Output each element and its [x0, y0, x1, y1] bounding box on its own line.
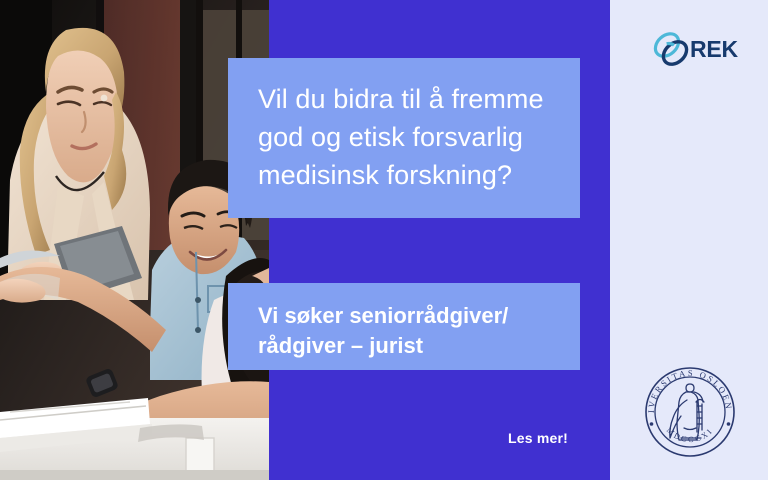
- svg-text:UNIVERSITAS OSLOENSIS: UNIVERSITAS OSLOENSIS: [640, 362, 734, 413]
- headline-line-3: medisinsk forskning?: [258, 156, 550, 194]
- svg-text:MDCCCXI: MDCCCXI: [665, 426, 715, 445]
- headline-card: Vil du bidra til å fremme god og etisk f…: [228, 58, 580, 218]
- rek-wordmark: REK: [690, 36, 738, 63]
- headline-line-1: Vil du bidra til å fremme: [258, 80, 550, 118]
- recruitment-banner: Vil du bidra til å fremme god og etisk f…: [0, 0, 768, 480]
- rek-logo: REK: [648, 26, 740, 72]
- uio-seal-logo: UNIVERSITAS OSLOENSIS MDCCCXI: [640, 362, 740, 462]
- job-title-card: Vi søker seniorrådgiver/ rådgiver – juri…: [228, 283, 580, 370]
- headline-line-2: god og etisk forsvarlig: [258, 118, 550, 156]
- uio-seal-icon: UNIVERSITAS OSLOENSIS MDCCCXI: [640, 362, 740, 462]
- read-more-link[interactable]: Les mer!: [508, 430, 568, 446]
- job-title-line-2: rådgiver – jurist: [258, 331, 550, 361]
- job-title-line-1: Vi søker seniorrådgiver/: [258, 301, 550, 331]
- uio-seal-year-text: MDCCCXI: [665, 426, 715, 445]
- uio-seal-outer-text: UNIVERSITAS OSLOENSIS: [640, 362, 734, 413]
- interlocking-rings-icon: [648, 26, 694, 72]
